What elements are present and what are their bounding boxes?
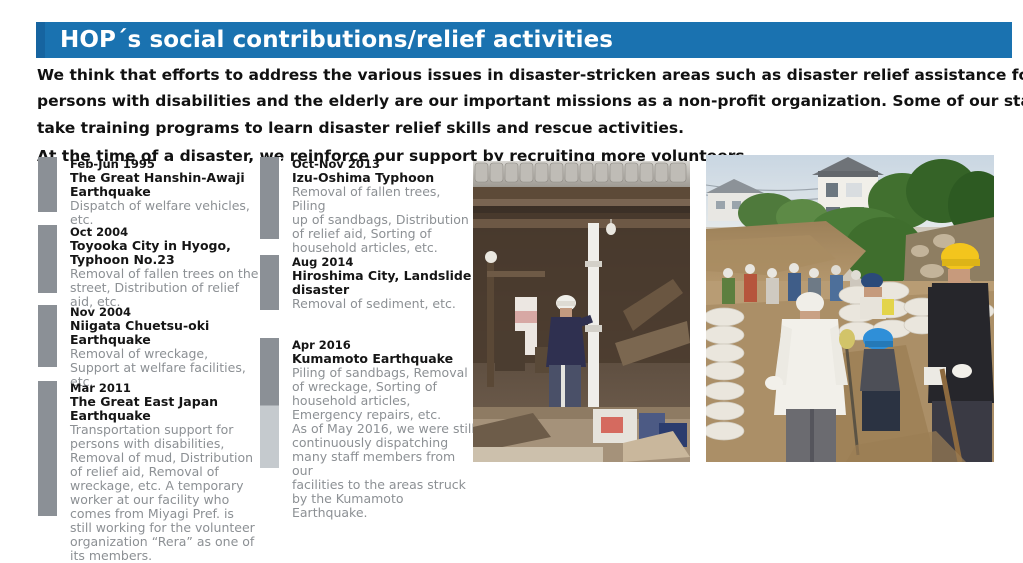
timeline-entry: Mar 2011 The Great East Japan Earthquake…: [38, 381, 266, 521]
timeline-entry: Aug 2014 Hiroshima City, Landslide disas…: [260, 255, 475, 338]
entry-title: Kumamoto Earthquake: [292, 352, 475, 366]
intro-line-1: We think that efforts to address the var…: [37, 62, 1002, 88]
entry-marker-bar: [260, 255, 281, 310]
timeline-entry: Nov 2004 Niigata Chuetsu-oki Earthquake …: [38, 305, 266, 381]
entry-body: Apr 2016 Kumamoto Earthquake Piling of s…: [292, 338, 475, 520]
page-title: HOP´s social contributions/relief activi…: [60, 27, 613, 53]
entry-marker-bar: [38, 381, 59, 516]
entry-body: Oct-Nov 2013 Izu-Oshima Typhoon Removal …: [292, 157, 475, 255]
page-header-bar: HOP´s social contributions/relief activi…: [36, 22, 1012, 58]
entry-title: Izu-Oshima Typhoon: [292, 171, 475, 185]
timeline-entry: Apr 2016 Kumamoto Earthquake Piling of s…: [260, 338, 475, 473]
entry-title: The Great Hanshin-Awaji Earthquake: [70, 171, 266, 199]
entry-title: Toyooka City in Hyogo, Typhoon No.23: [70, 239, 266, 267]
photo-sandbag-volunteers: [706, 155, 994, 462]
timeline-entry: Feb-Jun 1995 The Great Hanshin-Awaji Ear…: [38, 157, 266, 225]
entry-body: Aug 2014 Hiroshima City, Landslide disas…: [292, 255, 475, 311]
entry-description: Dispatch of welfare vehicles, etc.: [70, 199, 266, 227]
entry-marker-bar: [38, 305, 59, 367]
entry-marker-bar: [260, 338, 281, 468]
entry-description: Removal of fallen trees on the street, D…: [70, 267, 266, 309]
entry-title: Niigata Chuetsu-oki Earthquake: [70, 319, 266, 347]
intro-line-3: take training programs to learn disaster…: [37, 115, 1002, 141]
intro-paragraph: We think that efforts to address the var…: [37, 62, 1002, 169]
entry-title: Hiroshima City, Landslide disaster: [292, 269, 475, 297]
entry-description: Removal of fallen trees, Piling up of sa…: [292, 185, 475, 255]
entry-description: Transportation support for persons with …: [70, 423, 266, 563]
entry-marker-bar: [260, 157, 281, 239]
entry-description: Removal of sediment, etc.: [292, 297, 475, 311]
timeline-column-1: Feb-Jun 1995 The Great Hanshin-Awaji Ear…: [38, 157, 266, 521]
entry-title: The Great East Japan Earthquake: [70, 395, 266, 423]
entry-marker-bar: [38, 225, 59, 293]
entry-body: Mar 2011 The Great East Japan Earthquake…: [70, 381, 266, 563]
entry-marker-bar: [38, 157, 59, 212]
entry-description: Piling of sandbags, Removal of wreckage,…: [292, 366, 475, 520]
timeline-entry: Oct 2004 Toyooka City in Hyogo, Typhoon …: [38, 225, 266, 305]
intro-line-2: persons with disabilities and the elderl…: [37, 88, 1002, 114]
header-accent-stripe: [36, 22, 45, 58]
photo-damaged-building-volunteer: [473, 161, 690, 462]
entry-body: Oct 2004 Toyooka City in Hyogo, Typhoon …: [70, 225, 266, 309]
timeline-column-2: Oct-Nov 2013 Izu-Oshima Typhoon Removal …: [260, 157, 475, 473]
timeline-entry: Oct-Nov 2013 Izu-Oshima Typhoon Removal …: [260, 157, 475, 255]
entry-body: Nov 2004 Niigata Chuetsu-oki Earthquake …: [70, 305, 266, 389]
entry-body: Feb-Jun 1995 The Great Hanshin-Awaji Ear…: [70, 157, 266, 227]
